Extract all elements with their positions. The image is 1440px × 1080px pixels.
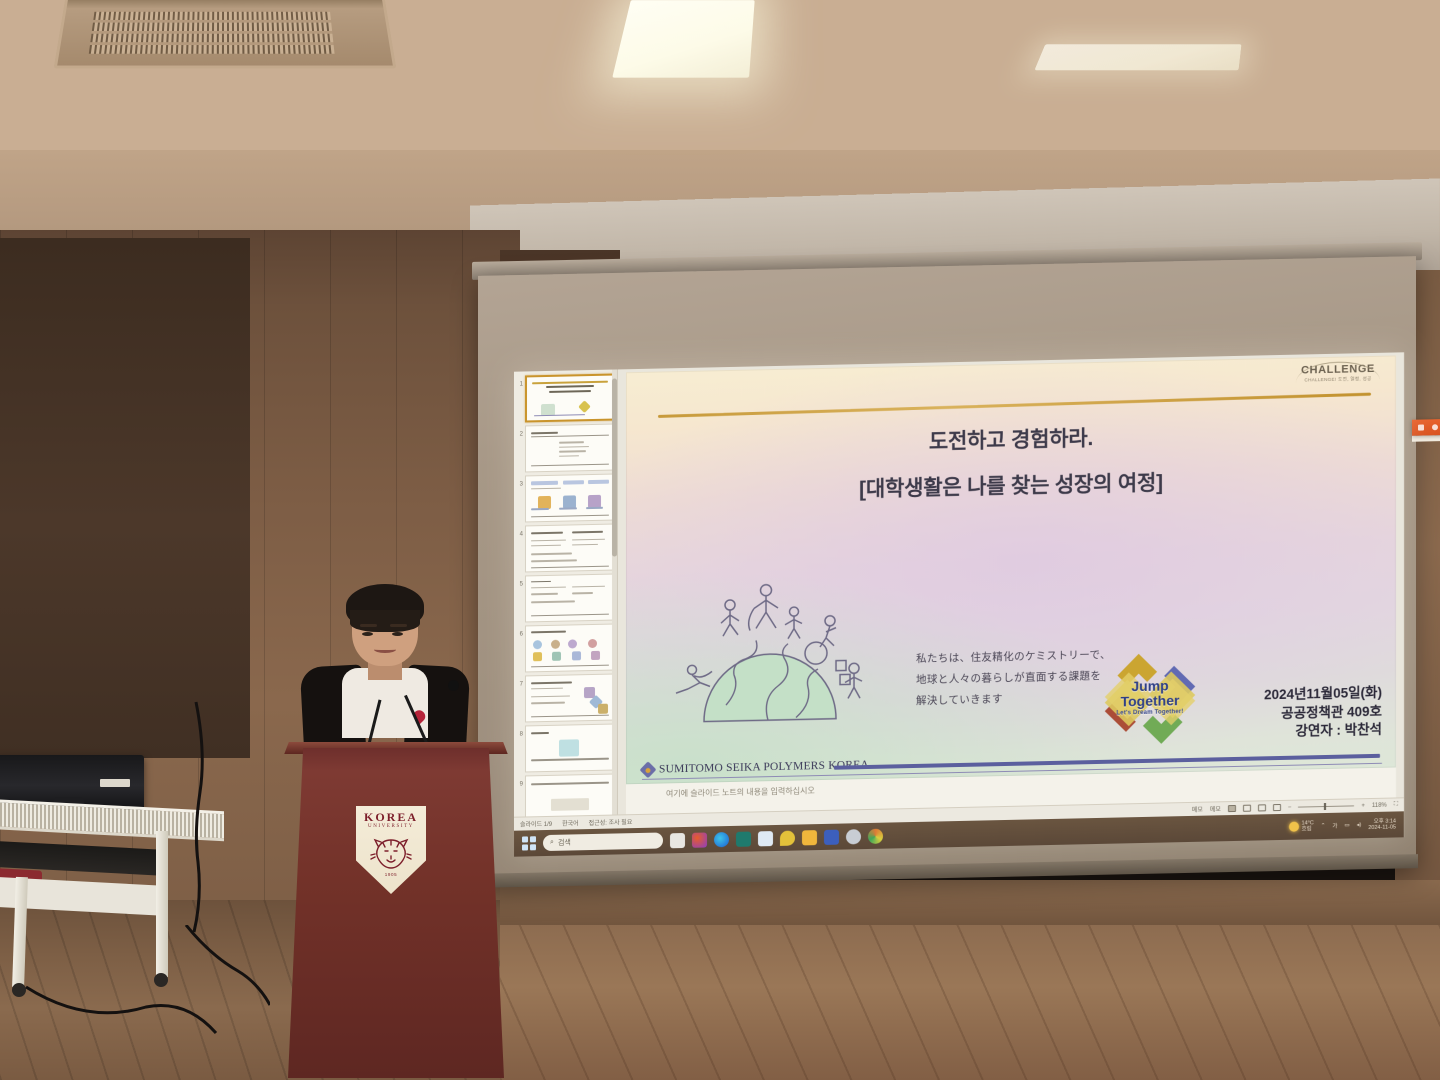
widgets-icon[interactable] [692, 832, 707, 847]
current-slide[interactable]: CHALLENGE CHALLENGE! 도전, 열정, 성공 도전하고 경험하… [626, 355, 1396, 784]
stage-floor [500, 925, 1440, 1080]
network-icon[interactable]: ▭ [1344, 822, 1349, 828]
powerpoint-workspace: 1 2 [514, 352, 1404, 816]
projection-screen: [강연자료]_산학협력_특강 - PowerPoint ⌕ 검색 1 [472, 252, 1422, 892]
notes-placeholder: 여기에 슬라이드 노트의 내용을 입력하십시오 [666, 786, 815, 798]
file-explorer-icon[interactable] [802, 830, 817, 845]
search-icon: ⌕ [550, 839, 554, 847]
ime-korean-icon[interactable]: 가 [1332, 822, 1337, 830]
sumitomo-diamond-icon [640, 761, 657, 778]
ceiling-light-panel-2 [1034, 44, 1241, 70]
thumbnail-scrollbar-thumb[interactable] [612, 378, 617, 556]
thumbnail-row[interactable]: 4 [516, 524, 615, 573]
reading-view-icon[interactable] [1258, 804, 1266, 811]
jump-line-2: Together [1100, 692, 1200, 709]
taskbar-search-input[interactable]: ⌕ 검색 [543, 832, 663, 851]
mic-cable [190, 700, 330, 1040]
slide-thumbnail-9[interactable] [525, 774, 615, 817]
thumbnail-row[interactable]: 3 [516, 474, 615, 523]
mouth [374, 646, 396, 653]
eyebrow-left [360, 624, 377, 627]
slide-thumbnail-1[interactable] [525, 374, 615, 423]
jump-logo-text: Jump Together Let's Dream Together! [1100, 678, 1200, 718]
vent-grille [89, 11, 335, 54]
slide-thumbnail-3[interactable] [525, 474, 615, 523]
weather-label: 흐림 [1302, 826, 1314, 833]
zoom-slider-knob[interactable] [1324, 803, 1326, 810]
maps-icon[interactable] [780, 830, 795, 845]
thumbnail-row[interactable]: 2 [516, 424, 615, 473]
thumbnail-row[interactable]: 5 [516, 574, 615, 623]
gold-divider-rule [658, 393, 1371, 418]
lecture-hall-scene: [강연자료]_산학협력_특강 - PowerPoint ⌕ 검색 1 [0, 0, 1440, 1080]
comments-button[interactable]: 메모 [1210, 804, 1221, 813]
globe-with-people-illustration [668, 576, 868, 725]
zoom-in-icon[interactable]: + [1361, 803, 1365, 809]
powerpoint-icon[interactable] [824, 829, 839, 844]
thumbnail-row[interactable]: 7 [516, 674, 615, 723]
slide-thumbnail-4[interactable] [525, 524, 615, 573]
eye-left [362, 632, 373, 636]
thumbnail-row[interactable]: 8 [516, 724, 615, 773]
event-details: 2024년11월05일(화) 공공정책관 409호 강연자 : 박찬석 [1264, 684, 1382, 742]
weather-widget[interactable]: 14°C 흐림 [1289, 820, 1314, 833]
monitor-label [100, 779, 130, 787]
edge-browser-icon[interactable] [714, 832, 729, 847]
thumbnail-row[interactable]: 1 [516, 374, 615, 423]
microphone-head-icon [448, 680, 459, 691]
fit-to-window-icon[interactable]: ⛶ [1394, 801, 1398, 808]
side-wall-dark [0, 238, 250, 758]
slide-sorter-icon[interactable] [1243, 805, 1251, 812]
slide-subtitle: [대학생활은 나를 찾는 성장의 여정] [626, 461, 1396, 508]
save-icon[interactable] [1418, 424, 1424, 430]
chevron-up-icon[interactable]: ⌃ [1321, 823, 1326, 829]
slide-thumbnail-8[interactable] [525, 724, 615, 773]
taskbar-clock[interactable]: 오후 3:14 2024-11-05 [1368, 818, 1396, 831]
powerpoint-window[interactable]: 1 2 [514, 352, 1404, 856]
slide-thumbnail-6[interactable] [525, 624, 615, 673]
crest-heading: KOREA UNIVERSITY [356, 811, 426, 829]
challenge-badge: CHALLENGE CHALLENGE! 도전, 열정, 성공 [1294, 360, 1382, 388]
clock-date: 2024-11-05 [1368, 824, 1396, 831]
autosave-icon[interactable] [1432, 424, 1438, 430]
crest-korea-text: KOREA [356, 811, 426, 823]
zoom-slider[interactable] [1298, 805, 1354, 807]
speaker-hair [346, 584, 424, 628]
event-speaker: 강연자 : 박찬석 [1264, 721, 1382, 742]
language-indicator[interactable]: 한국어 [562, 818, 579, 827]
zoom-level: 118% [1372, 802, 1387, 808]
ceiling-light-panel [612, 0, 754, 77]
slide-number: 3 [516, 476, 523, 488]
sun-icon [1289, 822, 1299, 832]
windows-start-icon[interactable] [522, 836, 536, 850]
title-block[interactable]: 도전하고 경험하라. [대학생활은 나를 찾는 성장의 여정] [626, 415, 1396, 508]
task-view-icon[interactable] [670, 832, 685, 847]
ceiling-air-vent-icon [54, 0, 397, 69]
slide-thumbnail-2[interactable] [525, 424, 615, 473]
thumbnail-row[interactable]: 9 [516, 774, 615, 817]
jump-together-logo: Jump Together Let's Dream Together! [1100, 648, 1200, 750]
slide-number: 4 [516, 526, 523, 538]
normal-view-icon[interactable] [1228, 805, 1236, 812]
thumbnail-row[interactable]: 6 [516, 624, 615, 673]
eyebrow-right [390, 624, 407, 627]
event-date: 2024년11월05일(화) [1264, 684, 1382, 705]
settings-icon[interactable] [846, 829, 861, 844]
volume-icon[interactable]: ◂) [1357, 822, 1362, 828]
slide-indicator: 슬라이드 1/9 [520, 819, 552, 829]
system-tray: 14°C 흐림 ⌃ 가 ▭ ◂) 오후 3:14 2024-11-05 [1289, 818, 1397, 833]
slide-editing-area[interactable]: CHALLENGE CHALLENGE! 도전, 열정, 성공 도전하고 경험하… [618, 352, 1404, 814]
slide-thumbnail-7[interactable] [525, 674, 615, 723]
slide-number: 1 [516, 376, 523, 388]
notes-button[interactable]: 메모 [1192, 805, 1203, 814]
slide-title: 도전하고 경험하라. [626, 415, 1396, 462]
eye-right [392, 632, 403, 636]
mail-icon[interactable] [758, 831, 773, 846]
thumbnail-scrollbar[interactable] [612, 369, 617, 814]
crest-university-text: UNIVERSITY [356, 824, 426, 829]
taskbar-search-placeholder: 검색 [558, 837, 571, 847]
chrome-icon[interactable] [868, 828, 883, 843]
slide-thumbnail-panel[interactable]: 1 2 [514, 369, 618, 816]
accessibility-indicator[interactable]: 접근성: 조사 필요 [589, 817, 633, 827]
footer-accent-bar [834, 754, 1380, 770]
slideshow-icon[interactable] [1273, 804, 1281, 811]
tiger-icon [370, 836, 412, 870]
slide-number: 2 [516, 426, 523, 438]
store-icon[interactable] [736, 831, 751, 846]
zoom-out-icon[interactable]: − [1288, 804, 1292, 810]
slide-thumbnail-5[interactable] [525, 574, 615, 623]
